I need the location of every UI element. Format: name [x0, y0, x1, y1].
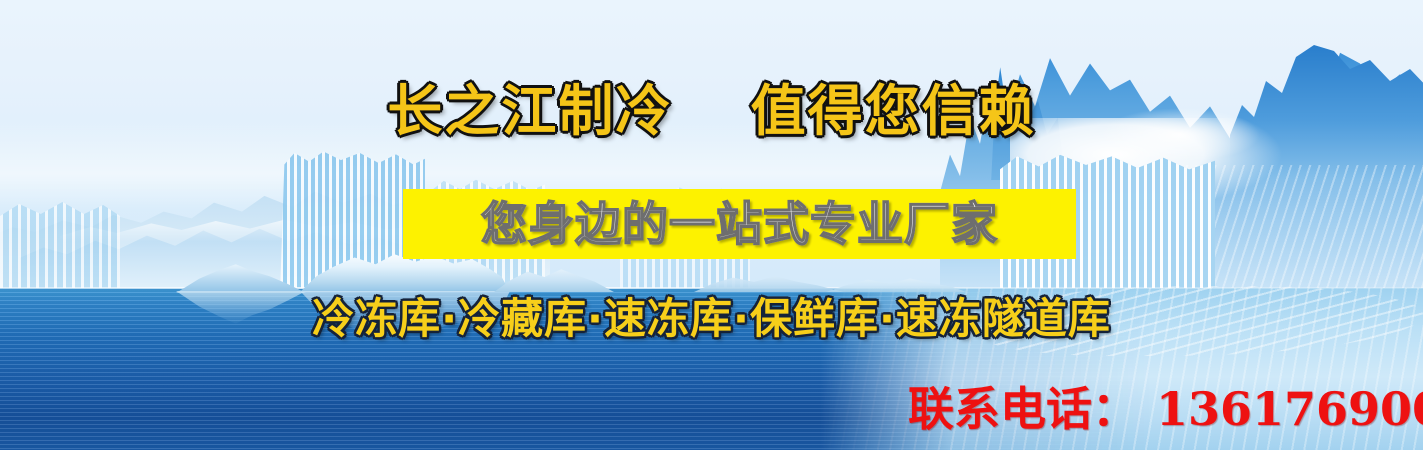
- contact-phone-number[interactable]: 13617690019: [1156, 382, 1423, 436]
- ice-wall-left-edge: [0, 196, 120, 296]
- headline-brand: 长之江制冷: [387, 79, 672, 143]
- subheadline-bar: 您身边的一站式专业厂家: [403, 189, 1076, 259]
- contact-line: 联系电话：13617690019: [908, 386, 1423, 432]
- headline: 长之江制冷 值得您信赖: [0, 84, 1423, 139]
- promo-banner: 长之江制冷 值得您信赖 您身边的一站式专业厂家 冷冻库·冷藏库·速冻库·保鲜库·…: [0, 0, 1423, 450]
- headline-slogan: 值得您信赖: [751, 79, 1036, 143]
- subheadline-text: 您身边的一站式专业厂家: [481, 201, 998, 247]
- contact-label: 联系电话：: [908, 382, 1138, 436]
- product-list: 冷冻库·冷藏库·速冻库·保鲜库·速冻隧道库: [0, 298, 1423, 340]
